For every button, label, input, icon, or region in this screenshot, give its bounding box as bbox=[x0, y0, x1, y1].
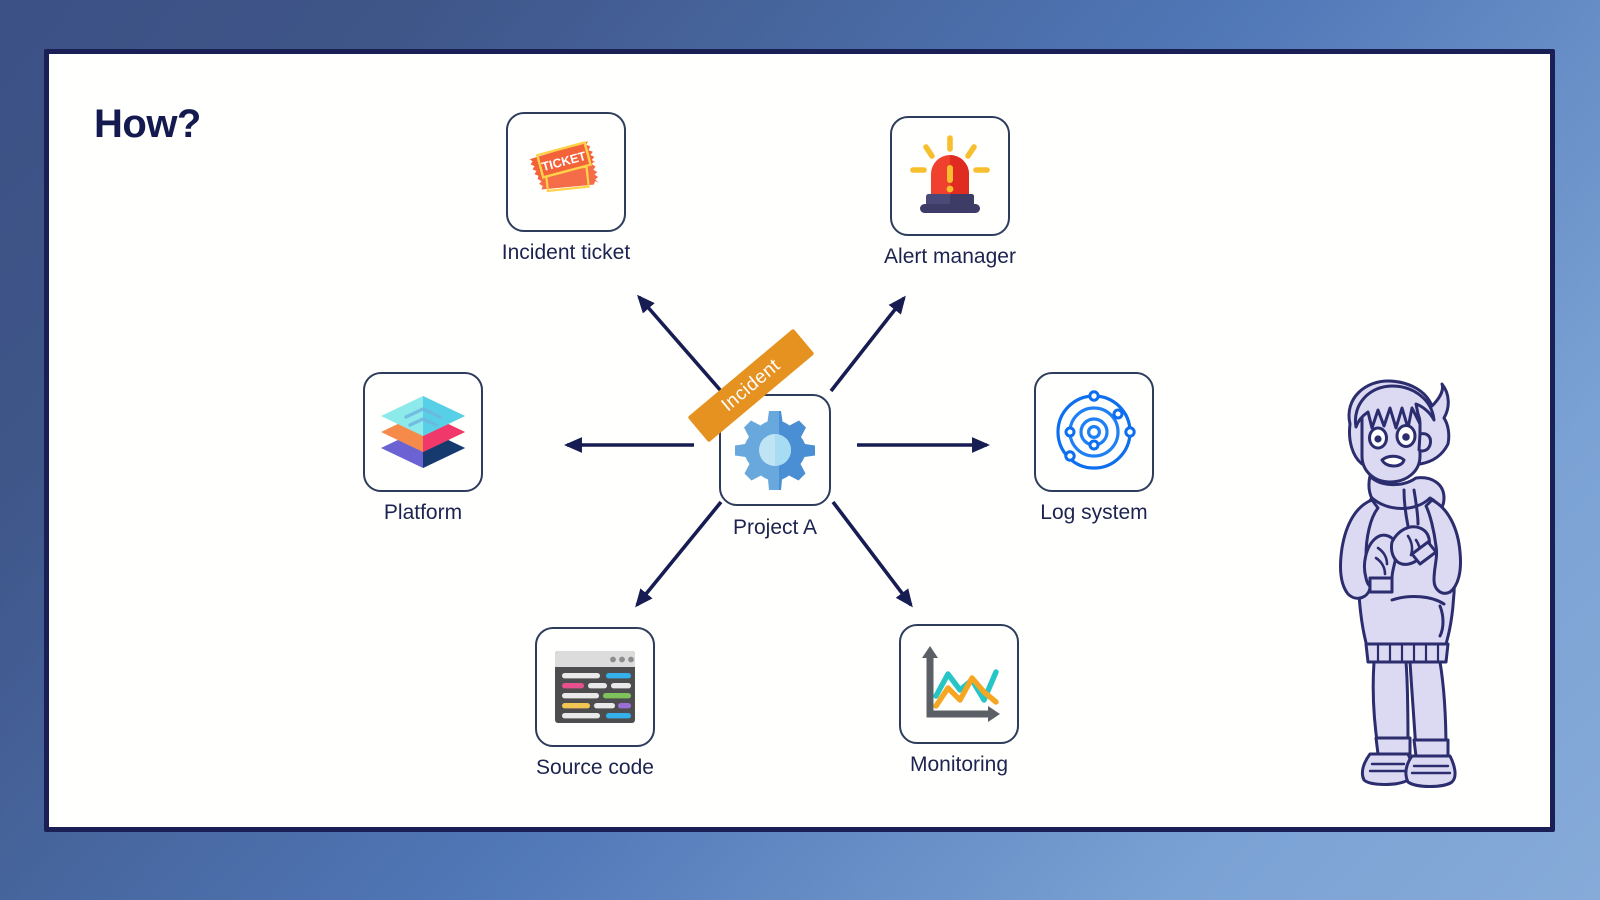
icon-card-log-system bbox=[1034, 372, 1154, 492]
arrow-to-incident-ticket bbox=[639, 297, 721, 391]
layers-stack-icon bbox=[377, 392, 469, 472]
line-chart-icon bbox=[916, 644, 1002, 724]
ticket-icon: TICKET bbox=[520, 132, 612, 212]
hub-and-spoke-diagram: TICKET Incident ticket bbox=[49, 54, 1560, 837]
gear-icon bbox=[734, 409, 816, 491]
node-project-a[interactable]: Incident Project A bbox=[695, 394, 855, 540]
node-source-code[interactable]: Source code bbox=[515, 627, 675, 780]
node-log-system[interactable]: Log system bbox=[1014, 372, 1174, 525]
code-window-icon bbox=[551, 649, 639, 725]
icon-card-incident-ticket: TICKET bbox=[506, 112, 626, 232]
slide-panel: How? bbox=[44, 49, 1555, 832]
node-label: Monitoring bbox=[879, 753, 1039, 777]
node-label: Platform bbox=[343, 501, 503, 525]
icon-card-platform bbox=[363, 372, 483, 492]
icon-card-monitoring bbox=[899, 624, 1019, 744]
node-label: Incident ticket bbox=[486, 241, 646, 265]
node-label: Project A bbox=[695, 516, 855, 540]
orbit-atom-icon bbox=[1050, 388, 1138, 476]
node-platform[interactable]: Platform bbox=[343, 372, 503, 525]
siren-alarm-icon bbox=[904, 134, 996, 218]
node-label: Alert manager bbox=[870, 245, 1030, 269]
node-monitoring[interactable]: Monitoring bbox=[879, 624, 1039, 777]
node-label: Source code bbox=[515, 756, 675, 780]
icon-card-alert-manager bbox=[890, 116, 1010, 236]
node-alert-manager[interactable]: Alert manager bbox=[870, 116, 1030, 269]
worried-person-illustration bbox=[1292, 372, 1482, 792]
icon-card-project-a: Incident bbox=[719, 394, 831, 506]
arrow-to-alert-manager bbox=[831, 298, 904, 391]
icon-card-source-code bbox=[535, 627, 655, 747]
node-label: Log system bbox=[1014, 501, 1174, 525]
node-incident-ticket[interactable]: TICKET Incident ticket bbox=[486, 112, 646, 265]
slide-root: How? bbox=[0, 0, 1600, 900]
